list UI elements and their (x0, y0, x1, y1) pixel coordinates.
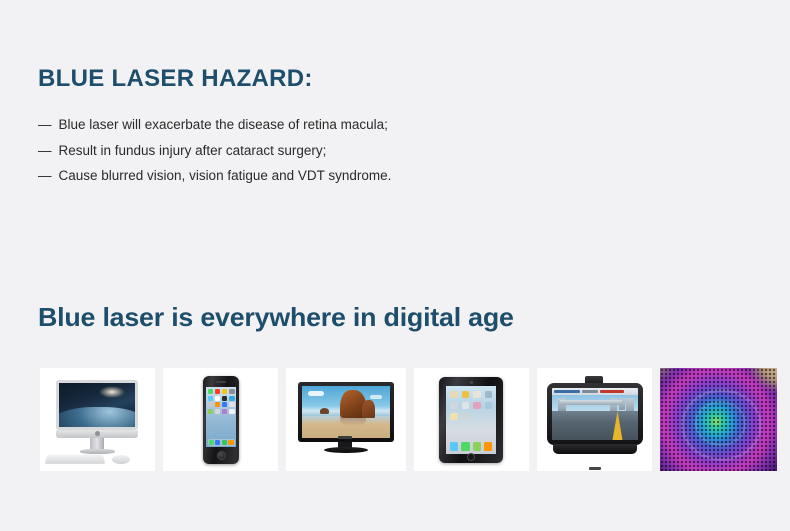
gps-status-bar (552, 388, 638, 395)
hazard-bullet-list: — Blue laser will exacerbate the disease… (38, 118, 558, 183)
flat-screen-television-icon (298, 382, 394, 442)
cloud-shape (370, 395, 382, 399)
phone-dock (208, 439, 235, 446)
dash-bullet-icon: — (38, 118, 52, 132)
keyboard-icon (45, 455, 106, 464)
device-gallery (40, 368, 747, 471)
hazard-title: BLUE LASER HAZARD: (38, 66, 558, 92)
gallery-item-television (286, 368, 406, 471)
tablet-dock (450, 442, 492, 451)
tablet-ipad-icon (439, 377, 503, 463)
dash-bullet-icon: — (38, 144, 52, 158)
gallery-item-desktop-computer (40, 368, 155, 471)
imac-stand-foot (80, 449, 115, 454)
hazard-section: BLUE LASER HAZARD: — Blue laser will exa… (38, 66, 558, 195)
phone-screen (206, 387, 236, 447)
small-rock (320, 408, 329, 414)
highway-road (552, 411, 638, 440)
dash-bullet-icon: — (38, 169, 52, 183)
app-icon-grid (450, 391, 492, 420)
app-icon-grid (208, 389, 235, 414)
gps-brand-badge (589, 467, 601, 470)
gallery-item-smartphone (163, 368, 278, 471)
gallery-item-tablet (414, 368, 529, 471)
hazard-bullet-item: — Result in fundus injury after cataract… (38, 144, 558, 158)
mouse-icon (112, 455, 130, 464)
gps-navigation-device-icon (547, 383, 643, 445)
tv-brand-badge (338, 436, 352, 439)
gallery-item-gps-navigator (537, 368, 652, 471)
cloud-shape (308, 391, 324, 396)
sun-glow (99, 386, 125, 398)
hazard-bullet-text: Cause blurred vision, vision fatigue and… (59, 169, 392, 183)
home-button-icon (467, 453, 475, 461)
led-display-panel-icon (660, 368, 777, 471)
home-button-icon (217, 451, 226, 460)
earpiece-speaker (216, 381, 226, 383)
gps-screen (552, 388, 638, 440)
overpass-bridge (560, 400, 622, 405)
smartphone-iphone-icon (203, 376, 239, 464)
led-dot-matrix (660, 368, 777, 471)
hazard-bullet-text: Result in fundus injury after cataract s… (59, 144, 327, 158)
gallery-item-led-display (660, 368, 777, 471)
tablet-screen (446, 386, 496, 454)
hazard-bullet-text: Blue laser will exacerbate the disease o… (59, 118, 388, 132)
hazard-bullet-item: — Blue laser will exacerbate the disease… (38, 118, 558, 132)
gps-cradle-base (553, 444, 637, 454)
desktop-computer-imac-icon (40, 368, 155, 471)
apple-logo-icon (95, 431, 100, 436)
everywhere-title: Blue laser is everywhere in digital age (38, 303, 514, 332)
front-camera-icon (470, 381, 473, 384)
earth-wallpaper (56, 407, 138, 430)
hazard-bullet-item: — Cause blurred vision, vision fatigue a… (38, 169, 558, 183)
yellow-lane-divider (612, 411, 625, 440)
secondary-rock (362, 400, 375, 418)
tv-screen (302, 386, 390, 438)
slide-page: BLUE LASER HAZARD: — Blue laser will exa… (0, 0, 790, 531)
imac-screen (56, 380, 138, 430)
tv-stand-base (324, 447, 368, 453)
